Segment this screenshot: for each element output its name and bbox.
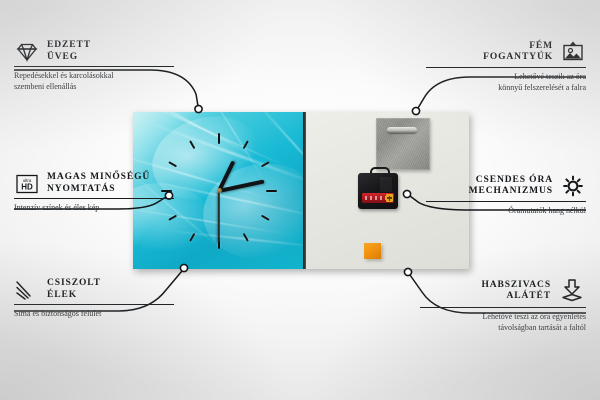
mechanism-housing bbox=[358, 173, 398, 209]
callout-desc-line1: Sima és biztonságos felület bbox=[14, 309, 174, 320]
feature-callout-metal-hangers: FÉM FOGANTYÚK Lehetővé teszik az óra kön… bbox=[426, 40, 586, 93]
diamond-icon bbox=[14, 41, 40, 63]
clock-second-hand bbox=[218, 191, 220, 243]
callout-divider bbox=[420, 307, 586, 308]
callout-desc-line2: könnyű felszerelését a falra bbox=[426, 83, 586, 94]
feature-callout-hd-print: ultra HD MAGAS MINŐSÉGŰ NYOMTATÁS Intenz… bbox=[14, 172, 174, 214]
callout-title-line2: FOGANTYÚK bbox=[483, 52, 553, 64]
callout-title-line1: CSISZOLT bbox=[47, 278, 101, 290]
callout-title-line2: ÉLEK bbox=[47, 290, 101, 302]
connector-dot-6 bbox=[404, 268, 411, 275]
callout-title-line2: MECHANIZMUS bbox=[469, 186, 553, 198]
feature-callout-tempered-glass: EDZETT ÜVEG Repedésekkel és karcolásokka… bbox=[14, 40, 174, 92]
callout-divider bbox=[426, 67, 586, 68]
panel-seam bbox=[303, 112, 306, 269]
callout-desc-line1: Lehetővé teszik az óra bbox=[426, 72, 586, 83]
infographic-canvas: EDZETT ÜVEG Repedésekkel és karcolásokka… bbox=[0, 0, 600, 400]
callout-divider bbox=[426, 201, 586, 202]
callout-title-line1: EDZETT bbox=[47, 40, 91, 52]
callout-desc-line2: távolságban tartását a faltól bbox=[420, 323, 586, 334]
callout-divider bbox=[14, 198, 174, 199]
callout-title-line2: NYOMTATÁS bbox=[47, 184, 150, 196]
ultra-hd-icon: ultra HD bbox=[14, 173, 40, 195]
picture-hanger-icon bbox=[560, 40, 586, 64]
callout-divider bbox=[14, 66, 174, 67]
gear-icon bbox=[560, 174, 586, 198]
feature-callout-silent-mechanism: CSENDES ÓRA MECHANIZMUS Óramutatók hang … bbox=[426, 174, 586, 217]
callout-desc-line1: Repedésekkel és karcolásokkal bbox=[14, 71, 174, 82]
battery-label-bands bbox=[365, 196, 386, 200]
foam-spacer-pad bbox=[364, 243, 381, 259]
clock-tick bbox=[218, 133, 220, 191]
foam-pad-icon bbox=[558, 278, 586, 304]
feature-callout-polished-edges: CSISZOLT ÉLEK Sima és biztonságos felüle… bbox=[14, 278, 174, 320]
callout-title-line2: ÜVEG bbox=[47, 52, 91, 64]
svg-text:HD: HD bbox=[21, 182, 33, 191]
callout-title-line1: HABSZIVACS bbox=[481, 280, 551, 292]
battery-plus-terminal bbox=[386, 194, 393, 202]
feature-callout-foam-pad: HABSZIVACS ALÁTÉT Lehetővé teszi az óra … bbox=[420, 278, 586, 333]
callout-desc-line1: Óramutatók hang nélkül bbox=[426, 206, 586, 217]
callout-title-line2: ALÁTÉT bbox=[481, 291, 551, 303]
callout-title-line1: MAGAS MINŐSÉGŰ bbox=[47, 172, 150, 184]
product-image bbox=[133, 112, 469, 269]
metal-hanger-plate bbox=[376, 118, 430, 170]
callout-desc-line1: Lehetővé teszi az óra egyenletes bbox=[420, 312, 586, 323]
polished-edge-icon bbox=[14, 279, 40, 301]
callout-divider bbox=[14, 304, 174, 305]
clock-center-cap bbox=[217, 188, 222, 193]
callout-desc-line2: szembeni ellenállás bbox=[14, 82, 174, 93]
callout-title-line1: CSENDES ÓRA bbox=[469, 175, 553, 187]
clock-mechanism bbox=[358, 167, 398, 209]
callout-desc-line1: Intenzív színek és éles kép bbox=[14, 203, 174, 214]
hanger-slot bbox=[387, 127, 417, 133]
aa-battery bbox=[362, 193, 394, 203]
brushed-metal-grain bbox=[376, 118, 430, 170]
callout-title-line1: FÉM bbox=[483, 41, 553, 53]
